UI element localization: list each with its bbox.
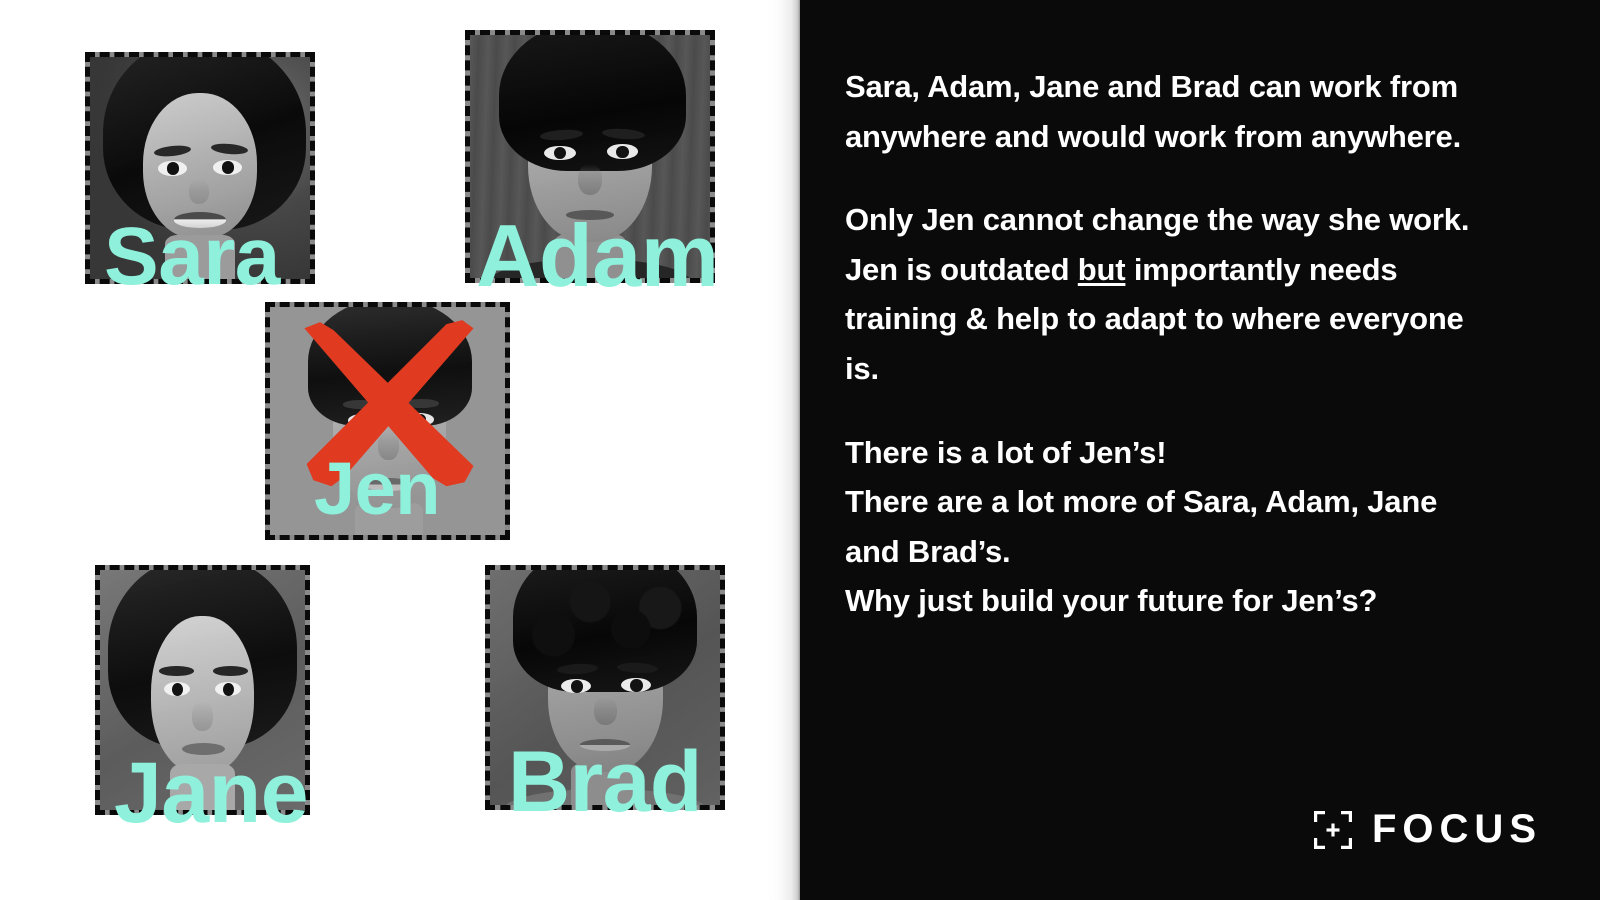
person-tile-adam[interactable]: Adam (465, 30, 715, 283)
paragraph-1-text: Sara, Adam, Jane and Brad can work from … (845, 69, 1461, 154)
paragraph-3-line-c: Why just build your future for Jen’s? (845, 583, 1377, 618)
person-name-label: Brad (508, 745, 702, 821)
person-tile-sara[interactable]: Sara (85, 52, 315, 284)
panel-divider (770, 0, 800, 900)
paragraph-3: There is a lot of Jen’s! There are a lot… (845, 428, 1495, 626)
paragraph-1: Sara, Adam, Jane and Brad can work from … (845, 62, 1495, 161)
slide-root: Sara Adam (0, 0, 1600, 900)
paragraph-2-line-b-pre: Jen is outdated (845, 252, 1078, 287)
person-tile-jen[interactable]: Jen (265, 302, 510, 540)
paragraph-3-line-b: There are a lot more of Sara, Adam, Jane… (845, 484, 1437, 569)
paragraph-3-line-a: There is a lot of Jen’s! (845, 435, 1166, 470)
person-name-label: Adam (476, 217, 719, 294)
paragraph-2-emphasis: but (1078, 252, 1126, 287)
copy-panel: Sara, Adam, Jane and Brad can work from … (800, 0, 1600, 900)
person-tile-brad[interactable]: Brad (485, 565, 725, 810)
person-name-label: Jane (114, 756, 308, 832)
focus-wordmark: FOCUS (1372, 807, 1542, 852)
person-tile-jane[interactable]: Jane (95, 565, 310, 815)
person-name-label: Jen (314, 456, 440, 521)
copy-block: Sara, Adam, Jane and Brad can work from … (845, 62, 1495, 626)
focus-logo[interactable]: FOCUS (1314, 807, 1542, 852)
photo-panel: Sara Adam (0, 0, 800, 900)
person-name-label: Sara (104, 221, 280, 293)
paragraph-2: Only Jen cannot change the way she work.… (845, 195, 1495, 393)
focus-bracket-plus-icon (1314, 811, 1352, 849)
paragraph-2-line-a: Only Jen cannot change the way she work. (845, 202, 1469, 237)
